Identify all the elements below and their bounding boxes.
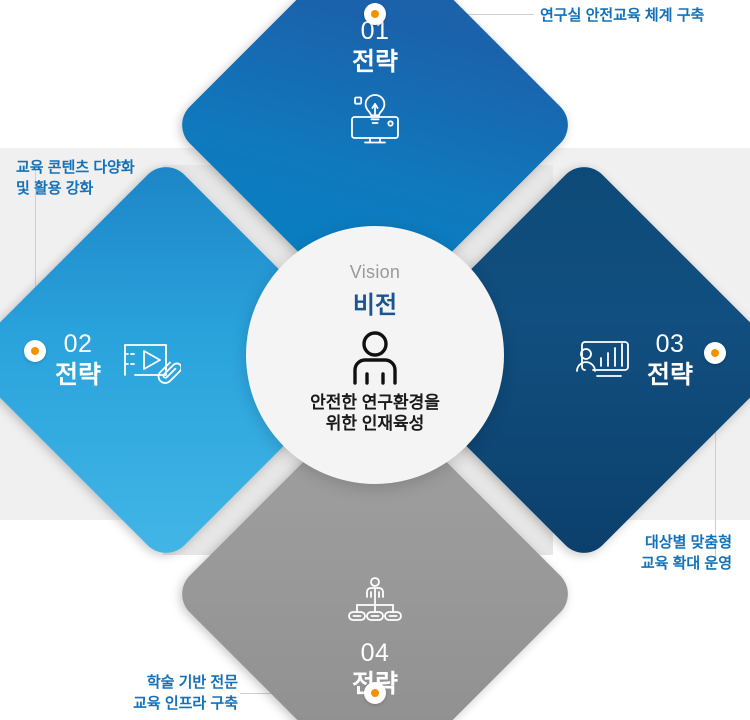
- callout-label-01: 연구실 안전교육 체계 구축: [540, 5, 704, 26]
- connector-dot-02[interactable]: [24, 340, 46, 362]
- vision-description: 안전한 연구환경을 위한 인재육성: [310, 392, 440, 435]
- connector-dot-01[interactable]: [364, 3, 386, 25]
- callout-label-02: 교육 콘텐츠 다양화 및 활용 강화: [16, 157, 135, 199]
- vision-label-en: Vision: [350, 262, 401, 283]
- vision-label-ko: 비전: [353, 285, 397, 320]
- vision-circle: Vision 비전 안전한 연구환경을 위한 인재육성: [246, 226, 504, 484]
- vision-strategy-diagram: 01 전략: [0, 0, 750, 720]
- connector-dot-03[interactable]: [704, 342, 726, 364]
- callout-label-04: 학술 기반 전문 교육 인프라 구축: [60, 672, 238, 714]
- strategy-04-diamond[interactable]: 04 전략: [231, 450, 519, 720]
- callout-label-03: 대상별 맞춤형 교육 확대 운영: [560, 532, 732, 574]
- person-icon: [346, 330, 404, 386]
- connector-dot-04[interactable]: [364, 682, 386, 704]
